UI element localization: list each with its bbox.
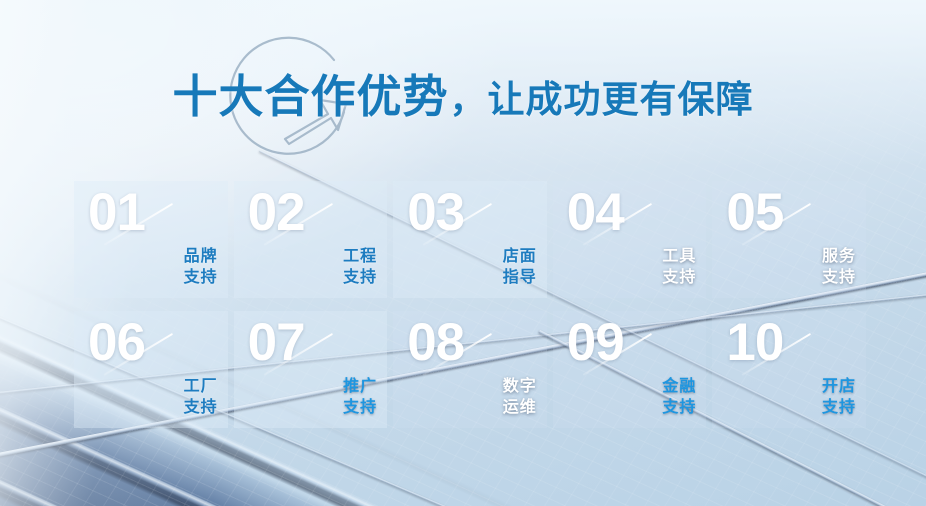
advantage-label: 工程 支持 (343, 246, 377, 288)
promo-banner: 十大合作优势，让成功更有保障 01 品牌 支持 02 工程 支持 03 店面 指… (0, 0, 926, 506)
advantage-number: 09 (567, 315, 624, 371)
advantage-grid: 01 品牌 支持 02 工程 支持 03 店面 指导 04 工具 支持 05 服… (74, 181, 866, 428)
advantage-cell-09[interactable]: 09 金融 支持 (553, 311, 707, 428)
advantage-number: 02 (248, 185, 305, 241)
advantage-cell-05[interactable]: 05 服务 支持 (712, 181, 866, 298)
advantage-label: 工厂 支持 (184, 376, 218, 418)
advantage-label: 推广 支持 (343, 376, 377, 418)
advantage-cell-04[interactable]: 04 工具 支持 (553, 181, 707, 298)
page-title: 十大合作优势，让成功更有保障 (0, 60, 926, 125)
title-sub: 让成功更有保障 (488, 79, 754, 120)
title-comma: ， (449, 79, 488, 120)
advantage-cell-03[interactable]: 03 店面 指导 (393, 181, 547, 298)
advantage-cell-06[interactable]: 06 工厂 支持 (74, 311, 228, 428)
advantage-number: 10 (726, 315, 783, 371)
advantage-number: 05 (726, 185, 783, 241)
advantage-number: 06 (88, 315, 145, 371)
advantage-label: 品牌 支持 (184, 246, 218, 288)
advantage-number: 08 (407, 315, 464, 371)
advantage-label: 开店 支持 (822, 376, 856, 418)
advantage-number: 03 (407, 185, 464, 241)
advantage-number: 01 (88, 185, 145, 241)
advantage-label: 金融 支持 (662, 376, 696, 418)
advantage-label: 店面 指导 (503, 246, 537, 288)
advantage-label: 服务 支持 (822, 246, 856, 288)
advantage-cell-01[interactable]: 01 品牌 支持 (74, 181, 228, 298)
advantage-label: 工具 支持 (662, 246, 696, 288)
advantage-label: 数字 运维 (503, 376, 537, 418)
advantage-cell-08[interactable]: 08 数字 运维 (393, 311, 547, 428)
advantage-cell-07[interactable]: 07 推广 支持 (234, 311, 388, 428)
title-main: 十大合作优势 (172, 71, 448, 122)
advantage-number: 04 (567, 185, 624, 241)
advantage-cell-02[interactable]: 02 工程 支持 (234, 181, 388, 298)
advantage-number: 07 (248, 315, 305, 371)
advantage-cell-10[interactable]: 10 开店 支持 (712, 311, 866, 428)
